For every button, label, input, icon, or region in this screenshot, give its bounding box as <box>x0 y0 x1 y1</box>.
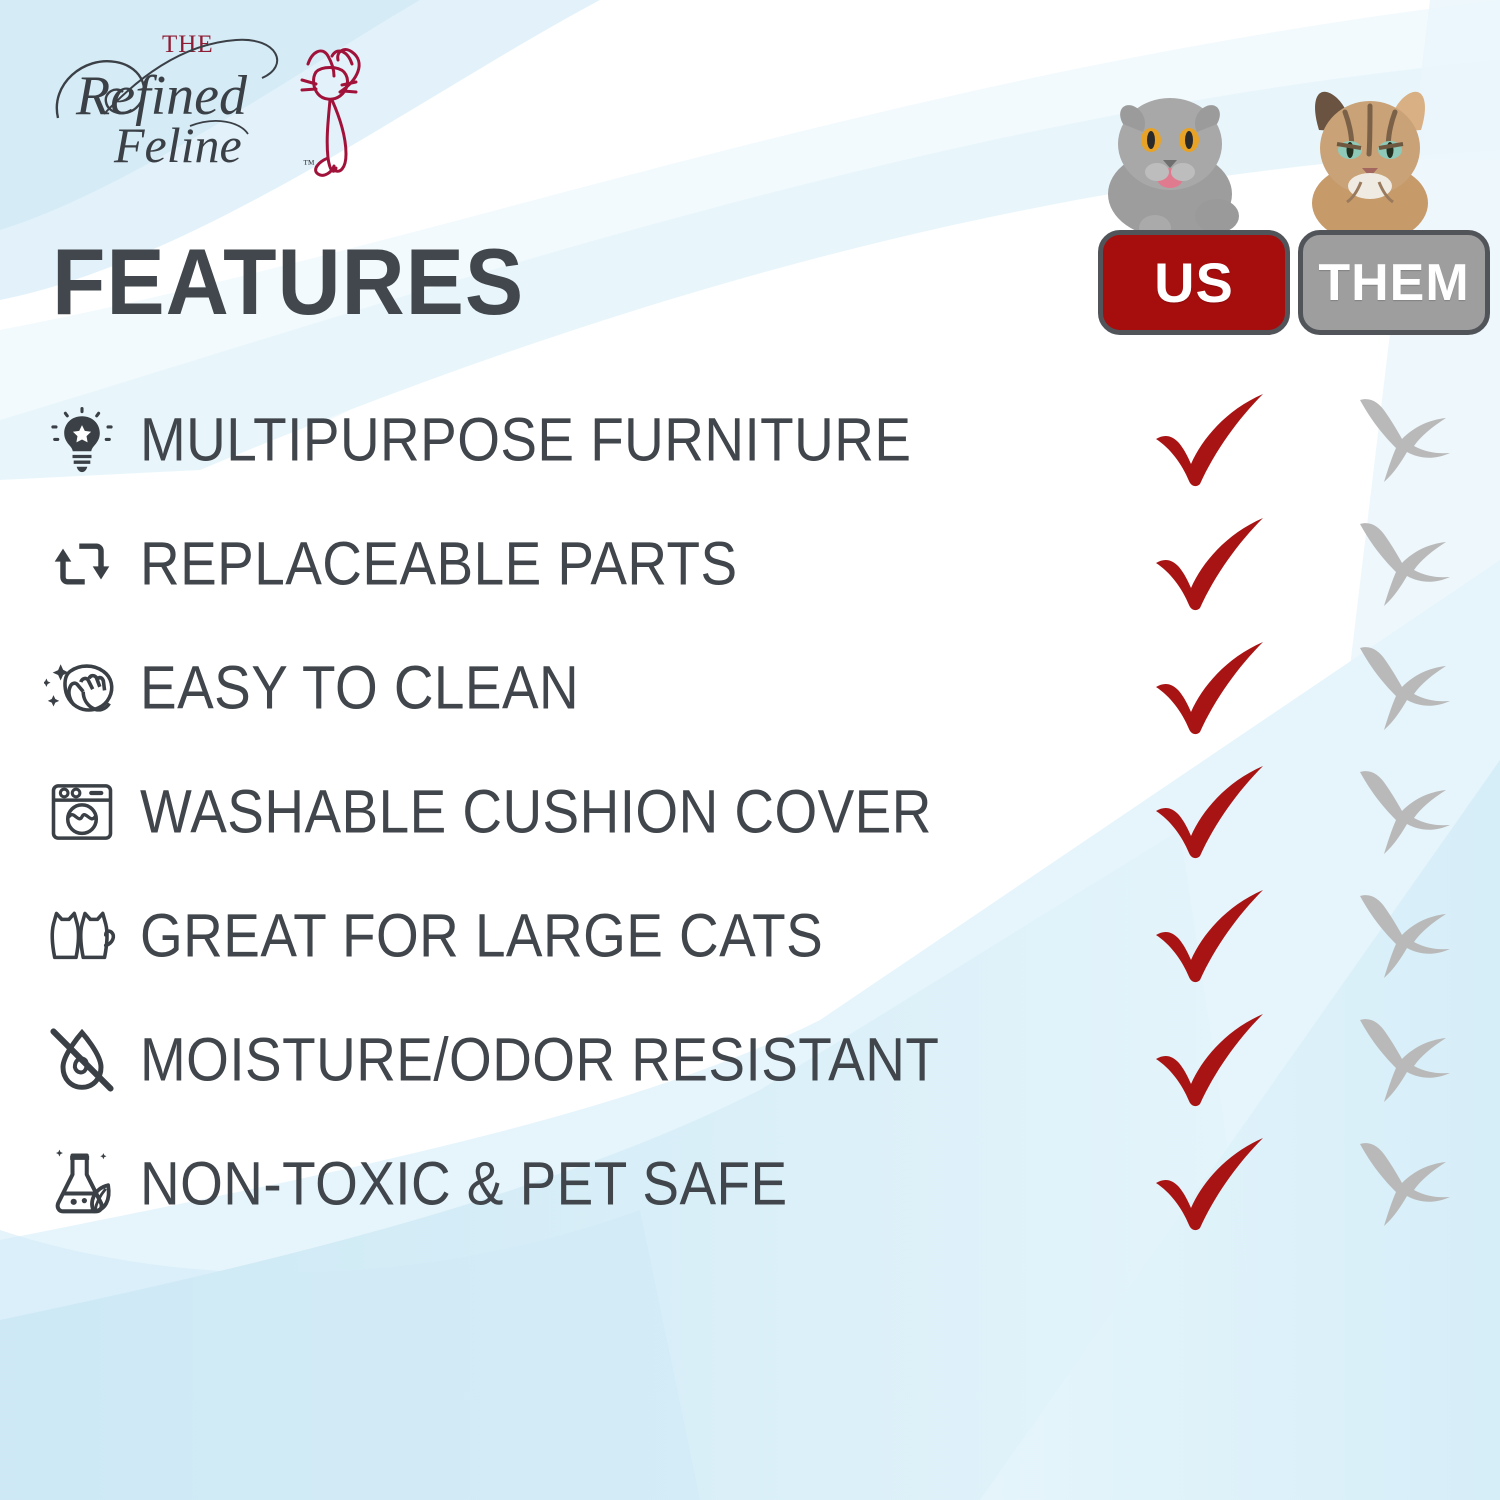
feature-row: WASHABLE CUSHION COVER <box>0 750 1500 874</box>
check-icon-us <box>1152 516 1270 612</box>
feature-label: REPLACEABLE PARTS <box>140 534 738 595</box>
logo-trademark: ™ <box>303 157 315 171</box>
no-water-drop-icon <box>44 1022 120 1098</box>
check-icon-us <box>1152 640 1270 736</box>
badge-us-label: US <box>1154 255 1234 311</box>
flask-leaf-icon <box>44 1146 120 1222</box>
logo-feline-text: Feline <box>113 117 242 173</box>
features-list: MULTIPURPOSE FURNITURE REPLACEABLE PARTS <box>0 378 1500 1246</box>
check-icon-us <box>1152 1136 1270 1232</box>
check-icon-us <box>1152 392 1270 488</box>
cross-icon-them <box>1352 1014 1452 1106</box>
check-icon-us <box>1152 764 1270 860</box>
feature-row: GREAT FOR LARGE CATS <box>0 874 1500 998</box>
feature-row: REPLACEABLE PARTS <box>0 502 1500 626</box>
check-icon-us <box>1152 1012 1270 1108</box>
washing-machine-icon <box>44 774 120 850</box>
cross-icon-them <box>1352 642 1452 734</box>
feature-label: WASHABLE CUSHION COVER <box>140 782 932 843</box>
cycle-arrows-icon <box>44 526 120 602</box>
comparison-header: US THEM <box>1090 58 1490 348</box>
wiping-hand-sparkle-icon <box>44 650 120 726</box>
lightbulb-star-icon <box>44 402 120 478</box>
page-title: FEATURES <box>52 235 524 329</box>
infographic-canvas: THE Refined Feline ™ FEATURES <box>0 0 1500 1500</box>
badge-them-label: THEM <box>1318 257 1469 309</box>
logo-artwork: THE Refined Feline ™ <box>40 22 370 182</box>
check-icon-us <box>1152 888 1270 984</box>
cross-icon-them <box>1352 890 1452 982</box>
two-cats-icon <box>44 898 120 974</box>
gray-scottish-fold-cat-photo <box>1095 76 1245 236</box>
tabby-cat-photo <box>1295 58 1445 238</box>
cross-icon-them <box>1352 766 1452 858</box>
feature-label: GREAT FOR LARGE CATS <box>140 906 823 967</box>
feature-label: EASY TO CLEAN <box>140 658 579 719</box>
badge-us[interactable]: US <box>1098 230 1290 335</box>
feature-row: MULTIPURPOSE FURNITURE <box>0 378 1500 502</box>
feature-label: MOISTURE/ODOR RESISTANT <box>140 1030 939 1091</box>
cross-icon-them <box>1352 394 1452 486</box>
cross-icon-them <box>1352 518 1452 610</box>
cross-icon-them <box>1352 1138 1452 1230</box>
feature-row: EASY TO CLEAN <box>0 626 1500 750</box>
badge-them[interactable]: THEM <box>1298 230 1490 335</box>
feature-label: NON-TOXIC & PET SAFE <box>140 1154 788 1215</box>
feature-row: NON-TOXIC & PET SAFE <box>0 1122 1500 1246</box>
feature-label: MULTIPURPOSE FURNITURE <box>140 410 911 471</box>
brand-logo: THE Refined Feline ™ <box>40 22 370 182</box>
feature-row: MOISTURE/ODOR RESISTANT <box>0 998 1500 1122</box>
